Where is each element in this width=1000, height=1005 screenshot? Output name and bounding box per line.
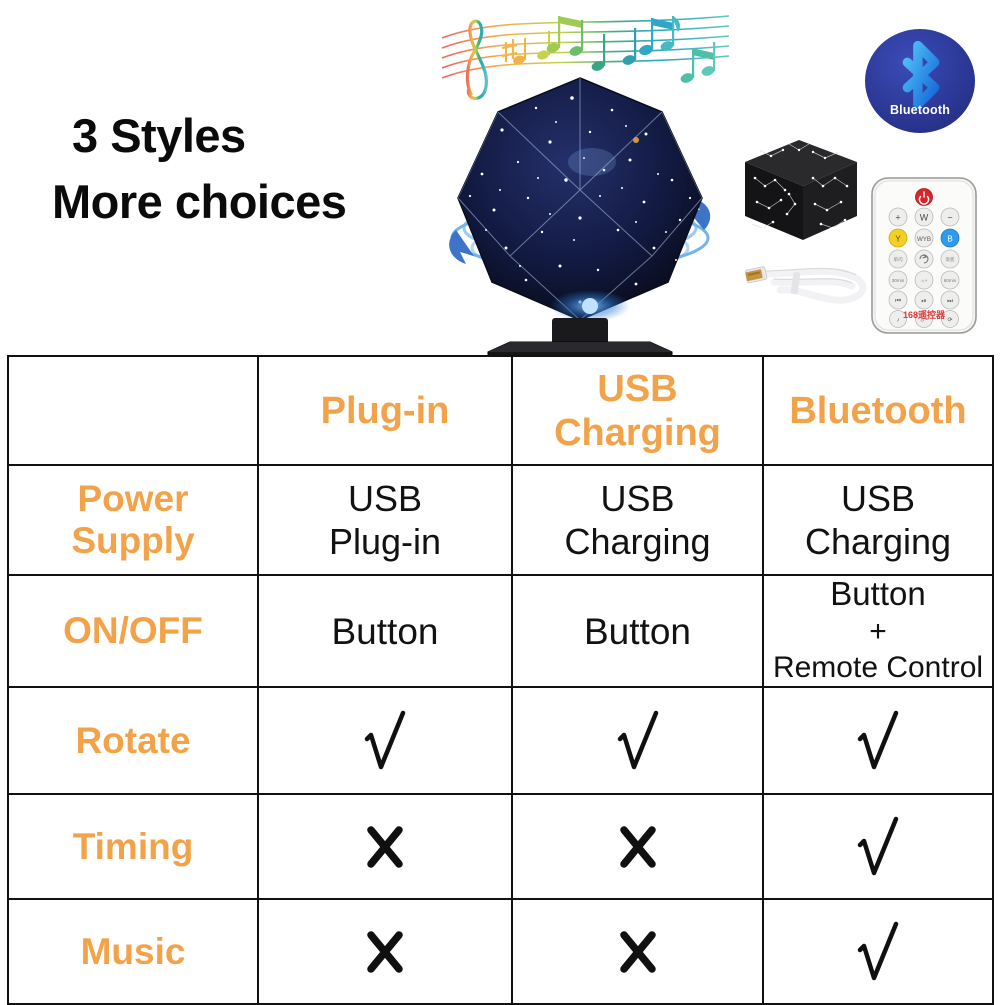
cell-timing-bluetooth bbox=[763, 794, 993, 899]
headline-line-2: More choices bbox=[52, 169, 452, 235]
cell-onoff-usb-charging: Button bbox=[512, 575, 763, 687]
check-mark-icon bbox=[768, 815, 988, 879]
table-row: ON/OFF Button Button Button + Remote Con… bbox=[8, 575, 993, 687]
check-mark-icon bbox=[768, 920, 988, 984]
svg-text:⏮: ⏮ bbox=[895, 298, 901, 305]
cross-mark-icon bbox=[517, 927, 758, 977]
svg-text:30min: 30min bbox=[892, 278, 905, 283]
cell-music-plugin bbox=[258, 899, 512, 1004]
page-title: 3 Styles More choices bbox=[52, 103, 452, 235]
table-header-row: Plug-in USB Charging Bluetooth bbox=[8, 356, 993, 465]
cell-music-usb-charging bbox=[512, 899, 763, 1004]
cross-mark-icon bbox=[517, 822, 758, 872]
cell-onoff-plugin: Button bbox=[258, 575, 512, 687]
comparison-table: Plug-in USB Charging Bluetooth Power Sup… bbox=[7, 355, 994, 1005]
product-comparison-image: 3 Styles More choices bbox=[0, 0, 1000, 1000]
cell-rotate-usb-charging bbox=[512, 687, 763, 794]
svg-text:WYB: WYB bbox=[917, 236, 931, 243]
row-header-power-supply: Power Supply bbox=[8, 465, 258, 575]
remote-model-label: 168遥控器 bbox=[866, 308, 982, 321]
svg-text:B: B bbox=[947, 235, 952, 244]
table-row: Power Supply USB Plug-in USB Charging US… bbox=[8, 465, 993, 575]
cell-onoff-bluetooth: Button + Remote Control bbox=[763, 575, 993, 687]
row-header-timing: Timing bbox=[8, 794, 258, 899]
svg-text:⏭: ⏭ bbox=[947, 298, 953, 305]
row-header-rotate: Rotate bbox=[8, 687, 258, 794]
row-header-music: Music bbox=[8, 899, 258, 1004]
cross-mark-icon bbox=[263, 822, 507, 872]
bluetooth-badge: Bluetooth bbox=[861, 27, 979, 139]
constellation-gift-box bbox=[729, 128, 869, 250]
svg-text:⏯: ⏯ bbox=[921, 298, 926, 305]
cell-music-bluetooth bbox=[763, 899, 993, 1004]
svg-text:渐变: 渐变 bbox=[945, 256, 955, 263]
cross-mark-icon bbox=[263, 927, 507, 977]
column-header-plugin: Plug-in bbox=[258, 356, 512, 465]
usb-cable bbox=[740, 248, 880, 316]
table-row: Rotate bbox=[8, 687, 993, 794]
svg-text:60min: 60min bbox=[944, 278, 957, 283]
svg-text:−: − bbox=[947, 213, 952, 223]
table-row: Timing bbox=[8, 794, 993, 899]
headline-line-1: 3 Styles bbox=[52, 103, 452, 169]
svg-text:Y: Y bbox=[895, 235, 901, 244]
bluetooth-badge-label: Bluetooth bbox=[861, 103, 979, 117]
remote-control: +W− Y WYB B 单闪渐变 bbox=[866, 176, 982, 336]
svg-text:W: W bbox=[920, 213, 929, 223]
cell-power-usb-charging: USB Charging bbox=[512, 465, 763, 575]
check-mark-icon bbox=[263, 709, 507, 773]
check-mark-icon bbox=[768, 709, 988, 773]
column-header-usb-charging: USB Charging bbox=[512, 356, 763, 465]
row-header-onoff: ON/OFF bbox=[8, 575, 258, 687]
cell-power-bluetooth: USB Charging bbox=[763, 465, 993, 575]
bluetooth-icon bbox=[861, 27, 979, 139]
cell-timing-plugin bbox=[258, 794, 512, 899]
cell-timing-usb-charging bbox=[512, 794, 763, 899]
cell-rotate-plugin bbox=[258, 687, 512, 794]
cell-rotate-bluetooth bbox=[763, 687, 993, 794]
star-projector-lamp bbox=[440, 70, 720, 355]
svg-text:☼+: ☼+ bbox=[921, 278, 928, 283]
hero-section: 3 Styles More choices bbox=[0, 0, 1000, 355]
svg-text:单闪: 单闪 bbox=[893, 256, 903, 263]
table-corner-cell bbox=[8, 356, 258, 465]
svg-text:+: + bbox=[895, 213, 900, 223]
check-mark-icon bbox=[517, 709, 758, 773]
table-row: Music bbox=[8, 899, 993, 1004]
cell-power-plugin: USB Plug-in bbox=[258, 465, 512, 575]
column-header-bluetooth: Bluetooth bbox=[763, 356, 993, 465]
